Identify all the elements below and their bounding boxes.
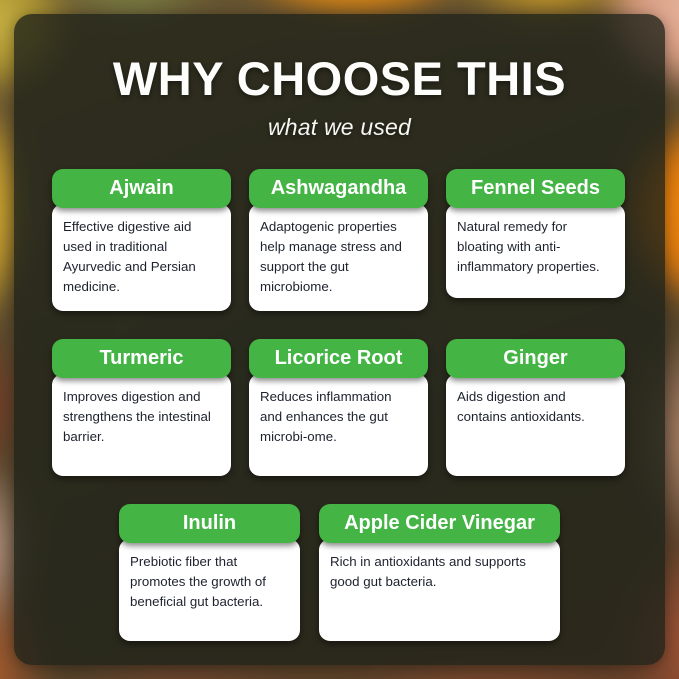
ingredient-card-ajwain[interactable]: Ajwain Effective digestive aid used in t… bbox=[52, 169, 231, 311]
content-panel-inner: WHY CHOOSE THIS what we used Ajwain Effe… bbox=[14, 14, 665, 665]
page-title: WHY CHOOSE THIS bbox=[52, 54, 627, 104]
ingredient-card-fennel-seeds[interactable]: Fennel Seeds Natural remedy for bloating… bbox=[446, 169, 625, 311]
card-row-3: Inulin Prebiotic fiber that promotes the… bbox=[52, 504, 627, 641]
ingredient-name-badge: Turmeric bbox=[52, 339, 231, 378]
page-subtitle: what we used bbox=[52, 114, 627, 141]
ingredient-description: Rich in antioxidants and supports good g… bbox=[319, 539, 560, 641]
ingredient-description: Effective digestive aid used in traditio… bbox=[52, 204, 231, 311]
ingredient-description: Reduces inflammation and enhances the gu… bbox=[249, 374, 428, 476]
ingredient-name-badge: Ajwain bbox=[52, 169, 231, 208]
ingredient-card-licorice-root[interactable]: Licorice Root Reduces inflammation and e… bbox=[249, 339, 428, 476]
ingredient-name-badge: Fennel Seeds bbox=[446, 169, 625, 208]
ingredient-description: Natural remedy for bloating with anti-in… bbox=[446, 204, 625, 298]
card-row-1: Ajwain Effective digestive aid used in t… bbox=[52, 169, 627, 311]
card-row-2: Turmeric Improves digestion and strength… bbox=[52, 339, 627, 476]
ingredient-description: Aids digestion and contains antioxidants… bbox=[446, 374, 625, 476]
ingredient-description: Prebiotic fiber that promotes the growth… bbox=[119, 539, 300, 641]
ingredient-card-ginger[interactable]: Ginger Aids digestion and contains antio… bbox=[446, 339, 625, 476]
content-panel: WHY CHOOSE THIS what we used Ajwain Effe… bbox=[14, 14, 665, 665]
ingredient-card-inulin[interactable]: Inulin Prebiotic fiber that promotes the… bbox=[119, 504, 300, 641]
ingredient-card-ashwagandha[interactable]: Ashwagandha Adaptogenic properties help … bbox=[249, 169, 428, 311]
ingredient-name-badge: Apple Cider Vinegar bbox=[319, 504, 560, 543]
ingredient-name-badge: Licorice Root bbox=[249, 339, 428, 378]
ingredient-description: Improves digestion and strengthens the i… bbox=[52, 374, 231, 476]
ingredient-name-badge: Ashwagandha bbox=[249, 169, 428, 208]
ingredient-card-turmeric[interactable]: Turmeric Improves digestion and strength… bbox=[52, 339, 231, 476]
ingredient-description: Adaptogenic properties help manage stres… bbox=[249, 204, 428, 311]
ingredient-card-grid: Ajwain Effective digestive aid used in t… bbox=[52, 169, 627, 641]
ingredient-name-badge: Ginger bbox=[446, 339, 625, 378]
infographic-stage: WHY CHOOSE THIS what we used Ajwain Effe… bbox=[0, 0, 679, 679]
ingredient-name-badge: Inulin bbox=[119, 504, 300, 543]
ingredient-card-apple-cider-vinegar[interactable]: Apple Cider Vinegar Rich in antioxidants… bbox=[319, 504, 560, 641]
